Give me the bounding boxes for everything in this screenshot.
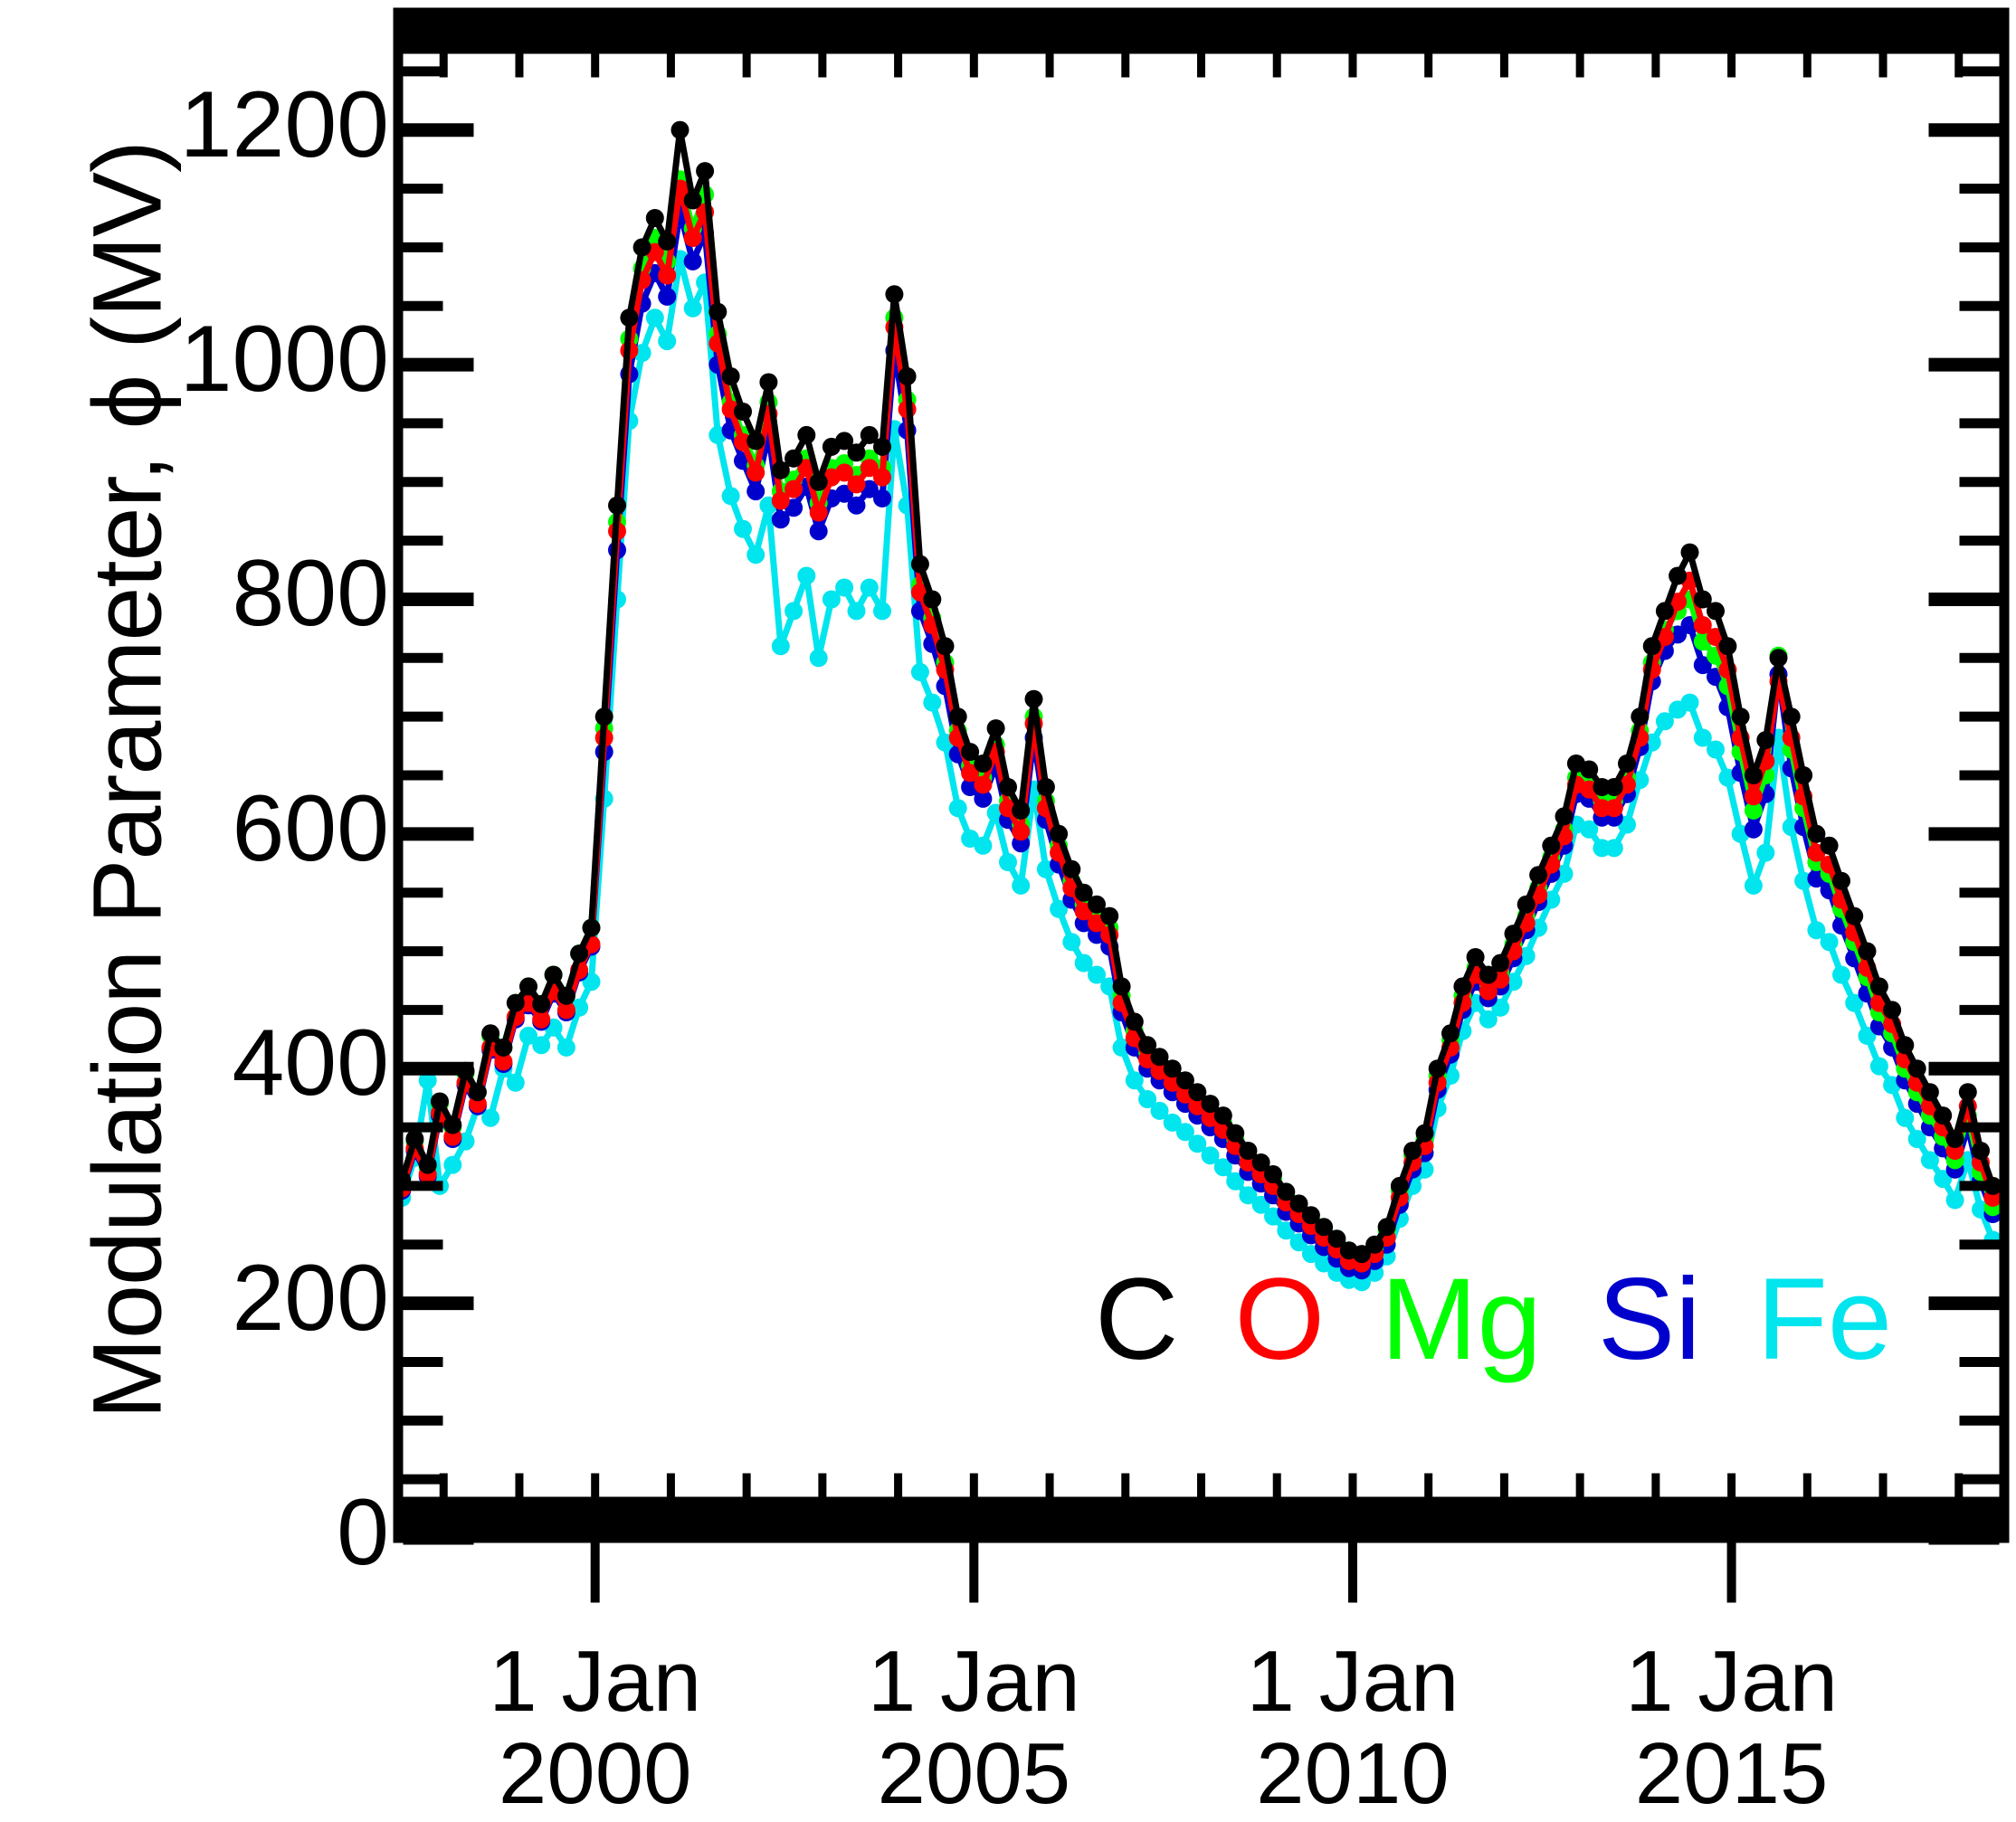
series-C (393, 121, 2002, 1263)
legend-item-fe: Fe (1757, 1262, 1892, 1378)
series-O (393, 180, 2002, 1273)
legend-item-o: O (1234, 1262, 1325, 1378)
legend-item-si: Si (1598, 1262, 1701, 1378)
legend-item-c: C (1095, 1262, 1178, 1378)
chart-figure: Modulation Parameter, ϕ (MV) 12001000800… (0, 0, 2016, 1751)
plot-canvas (0, 0, 2016, 1751)
legend-item-mg: Mg (1381, 1262, 1542, 1378)
series-legend: COMgSiFe (1095, 1262, 1892, 1378)
